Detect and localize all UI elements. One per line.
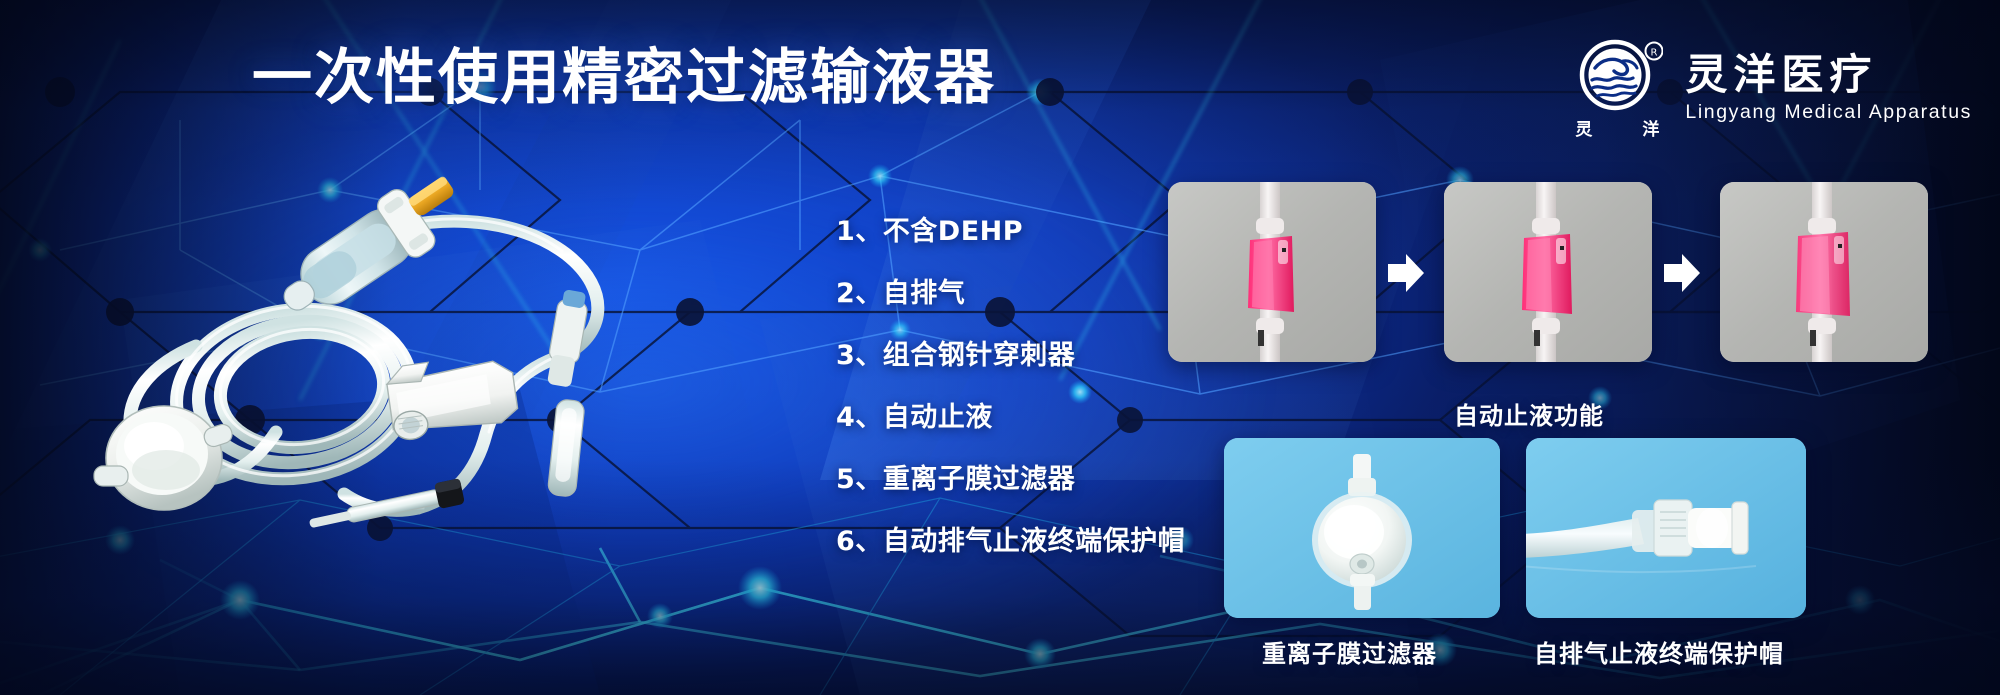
page-title: 一次性使用精密过滤输液器 [252, 48, 996, 108]
caption-filter: 重离子膜过滤器 [1262, 634, 1437, 669]
demo-frame-3 [1720, 182, 1928, 362]
caption-auto-stop: 自动止液功能 [1454, 396, 1604, 431]
brand-name-en: Lingyang Medical Apparatus [1685, 101, 1972, 124]
product-hero-image [46, 150, 686, 550]
detail-panel-filter [1224, 438, 1500, 618]
logo-char-yang: 洋 [1642, 115, 1659, 140]
brand-name-block: 灵洋医疗 Lingyang Medical Apparatus [1685, 52, 1972, 124]
logo-char-ling: 灵 [1575, 115, 1592, 140]
logo-emblem-icon: R 灵 洋 [1571, 38, 1663, 138]
feature-item-1: 1、不含DEHP [836, 218, 1185, 245]
promo-banner: 一次性使用精密过滤输液器 R 灵 洋 灵洋医疗 Lingya [0, 0, 2000, 695]
detail-panel-cap [1526, 438, 1806, 618]
feature-item-3: 3、组合钢针穿刺器 [836, 342, 1185, 369]
svg-text:R: R [1651, 48, 1658, 59]
feature-item-4: 4、自动止液 [836, 404, 1185, 431]
demo-frame-2 [1444, 182, 1652, 362]
caption-protective-cap: 自排气止液终端保护帽 [1534, 634, 1784, 669]
feature-list: 1、不含DEHP 2、自排气 3、组合钢针穿刺器 4、自动止液 5、重离子膜过滤… [836, 218, 1185, 555]
sequence-arrow-2-icon [1662, 252, 1702, 294]
feature-item-5: 5、重离子膜过滤器 [836, 466, 1185, 493]
demo-frame-1 [1168, 182, 1376, 362]
title-block: 一次性使用精密过滤输液器 [252, 48, 996, 108]
brand-logo: R 灵 洋 灵洋医疗 Lingyang Medical Apparatus [1571, 38, 1972, 138]
feature-item-2: 2、自排气 [836, 280, 1185, 307]
feature-item-6: 6、自动排气止液终端保护帽 [836, 528, 1185, 555]
sequence-arrow-1-icon [1386, 252, 1426, 294]
logo-emblem-subtext: 灵 洋 [1571, 115, 1663, 140]
brand-name-cn: 灵洋医疗 [1685, 52, 1972, 97]
